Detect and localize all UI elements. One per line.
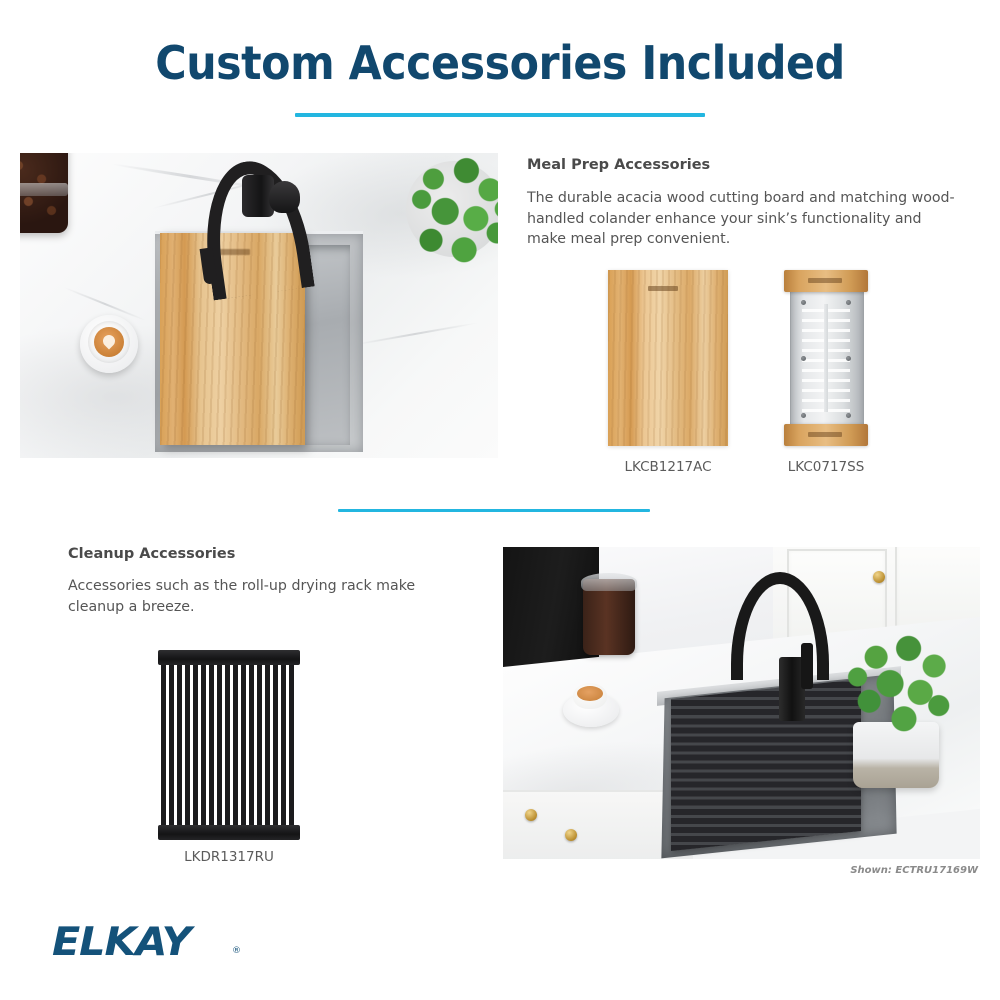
colander-wood-handle-bottom <box>784 424 868 446</box>
colander-rivet <box>801 413 806 418</box>
plant-leaves <box>839 633 955 743</box>
elkay-brand-mark-icon <box>808 278 842 283</box>
colander-rivet <box>846 413 851 418</box>
drying-rack-rods <box>161 664 297 826</box>
drying-rack-bar-bottom <box>158 825 300 840</box>
faucet-handle <box>269 181 300 213</box>
cabinet-knob-icon <box>525 809 537 821</box>
faucet-handle <box>801 643 813 689</box>
meal-prep-heading: Meal Prep Accessories <box>527 157 710 173</box>
plant-leaves <box>398 153 498 269</box>
product-model-colander: LKC0717SS <box>756 459 896 475</box>
product-model-drying-rack: LKDR1317RU <box>149 849 309 865</box>
canister-lid <box>581 573 637 591</box>
cleanup-body: Accessories such as the roll-up drying r… <box>68 576 458 617</box>
page-title: Custom Accessories Included <box>35 36 965 90</box>
cleanup-heading: Cleanup Accessories <box>68 546 235 562</box>
colander-rivet <box>801 356 806 361</box>
elkay-brand-mark-icon <box>808 432 842 437</box>
colander-center-gap <box>824 304 828 412</box>
drying-rack-bar-top <box>158 650 300 665</box>
roll-up-drying-rack-in-sink <box>671 679 861 851</box>
colander-rivet <box>846 300 851 305</box>
colander-wood-handle-top <box>784 270 868 292</box>
title-divider <box>295 113 705 117</box>
infographic-page: Custom Accessories Included Meal Pr <box>0 0 1000 1000</box>
registered-trademark-icon: ® <box>232 946 241 956</box>
product-image-cutting-board <box>608 270 728 446</box>
elkay-logo: ELKAY <box>52 920 191 965</box>
photo-caption: Shown: ECTRU17169W <box>700 865 978 876</box>
elkay-brand-mark-icon <box>648 286 678 291</box>
cabinet-knob-icon <box>565 829 577 841</box>
sink-top-down-lifestyle-photo <box>20 153 498 458</box>
latte-surface <box>577 686 603 701</box>
colander-rivet <box>846 356 851 361</box>
product-image-colander <box>784 270 868 446</box>
product-model-cutting-board: LKCB1217AC <box>588 459 748 475</box>
meal-prep-body: The durable acacia wood cutting board an… <box>527 188 959 250</box>
section-divider <box>338 509 650 512</box>
colander-rivet <box>801 300 806 305</box>
cabinet-knob-icon <box>873 571 885 583</box>
product-image-drying-rack <box>158 650 300 840</box>
jar-lid <box>20 183 68 196</box>
kitchen-lifestyle-photo <box>503 547 980 859</box>
